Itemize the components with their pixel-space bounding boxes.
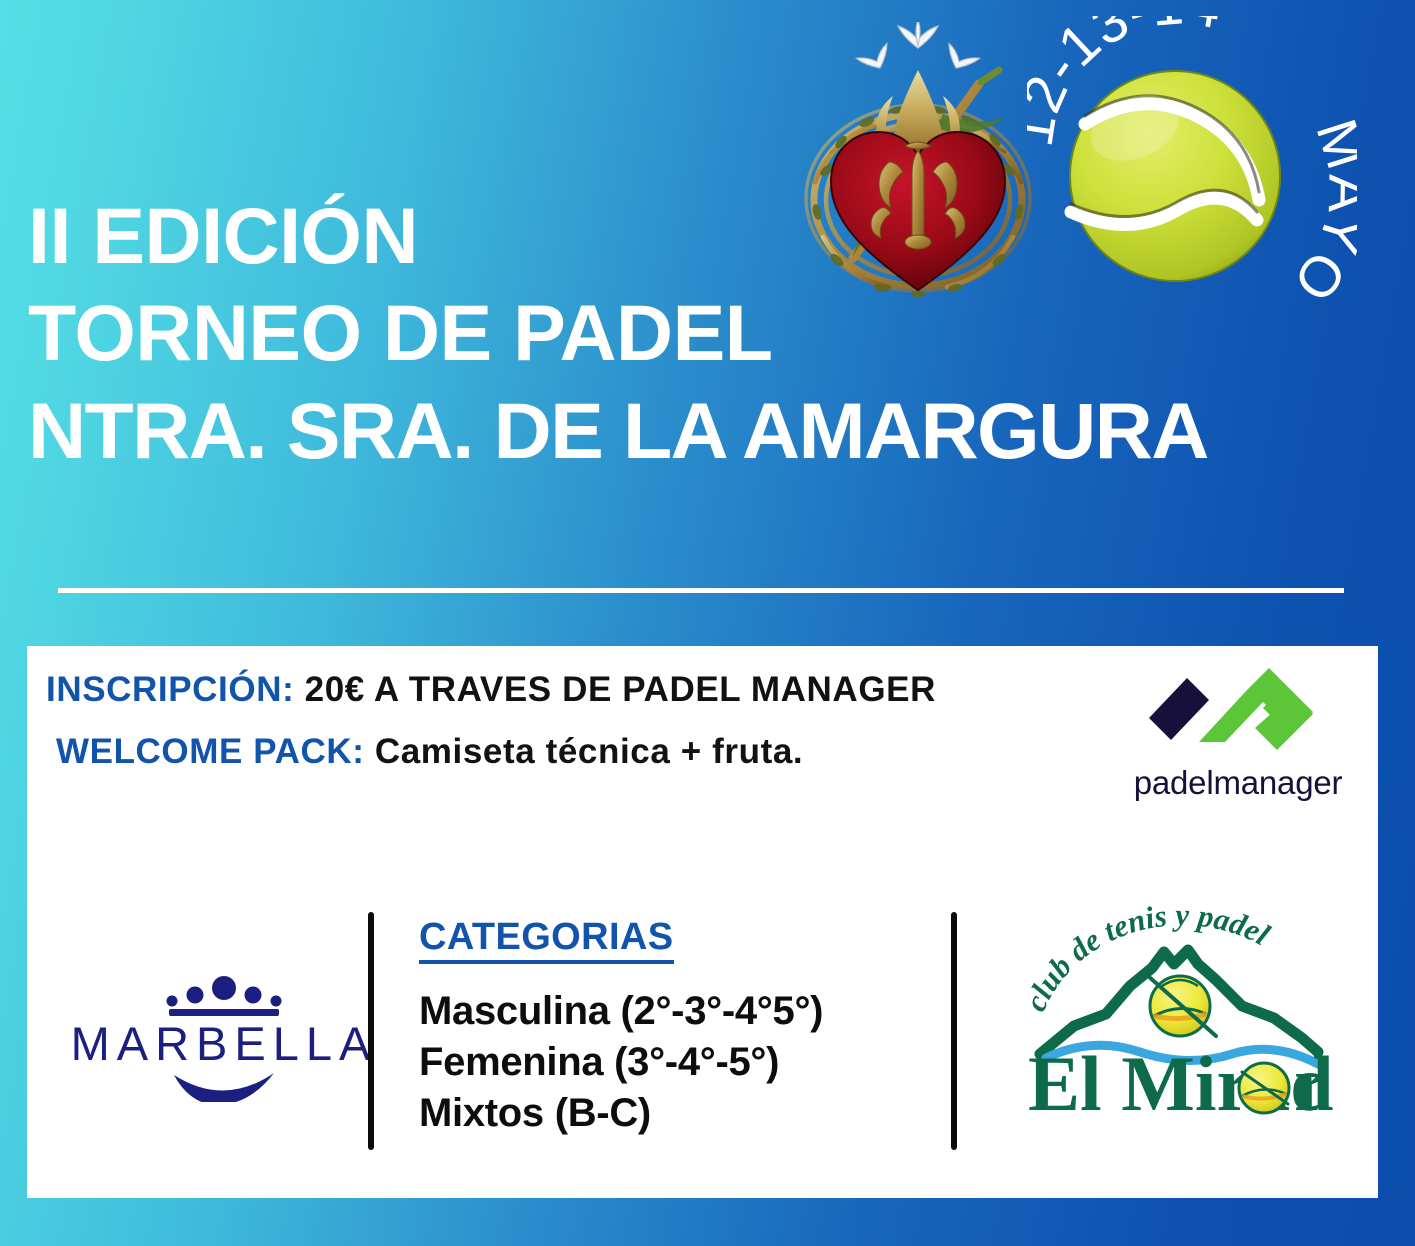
sponsors-and-categories-row: MARBELLA CATEGORIAS Masculina (2°-3°-4°5…	[27, 894, 1378, 1194]
padelmanager-logo: padelmanager	[1113, 660, 1363, 810]
marbella-crown-icon	[167, 976, 282, 1016]
lilies	[856, 22, 979, 75]
inscription-label: INSCRIPCIÓN:	[46, 670, 294, 709]
categories-heading: CATEGORIAS	[419, 916, 674, 964]
categories-list: Masculina (2°-3°-4°5°) Femenina (3°-4°-5…	[419, 986, 939, 1140]
category-item: Masculina (2°-3°-4°5°)	[419, 986, 939, 1037]
registration-block: INSCRIPCIÓN: 20€ A TRAVES DE PADEL MANAG…	[46, 670, 1136, 772]
el-mirador-logo: club de tenis y padel El	[1002, 902, 1362, 1124]
categories-block: CATEGORIAS Masculina (2°-3°-4°5°) Femeni…	[419, 916, 939, 1140]
title-line-2: TORNEO DE PADEL	[28, 293, 1388, 374]
inscription-row: INSCRIPCIÓN: 20€ A TRAVES DE PADEL MANAG…	[46, 670, 1136, 710]
title-divider	[58, 588, 1344, 593]
welcome-pack-label: WELCOME PACK:	[56, 732, 365, 771]
marbella-logo: MARBELLA	[69, 972, 379, 1102]
tournament-poster: 12-13-14 MAYO II EDICIÓN TORNEO DE PADEL…	[0, 0, 1415, 1246]
divider-right	[951, 912, 957, 1150]
welcome-pack-row: WELCOME PACK: Camiseta técnica + fruta.	[56, 732, 1136, 772]
category-item: Mixtos (B-C)	[419, 1088, 939, 1139]
category-item: Femenina (3°-4°-5°)	[419, 1037, 939, 1088]
welcome-pack-value: Camiseta técnica + fruta.	[375, 732, 803, 771]
padelmanager-mark	[1113, 660, 1363, 760]
mirador-wordmark-part2: r	[1294, 1040, 1329, 1124]
marbella-wordmark: MARBELLA	[71, 1017, 378, 1070]
inscription-value: 20€ A TRAVES DE PADEL MANAGER	[305, 670, 936, 709]
padelmanager-wordmark: padelmanager	[1113, 764, 1363, 802]
info-panel: INSCRIPCIÓN: 20€ A TRAVES DE PADEL MANAG…	[27, 646, 1378, 1198]
title-line-1: II EDICIÓN	[28, 196, 1388, 277]
title-line-3: NTRA. SRA. DE LA AMARGURA	[28, 391, 1415, 472]
poster-title: II EDICIÓN TORNEO DE PADEL NTRA. SRA. DE…	[28, 196, 1388, 472]
divider-left	[368, 912, 374, 1150]
mirador-o-ball-icon	[1239, 1063, 1289, 1113]
marbella-swoosh-icon	[174, 1073, 274, 1102]
